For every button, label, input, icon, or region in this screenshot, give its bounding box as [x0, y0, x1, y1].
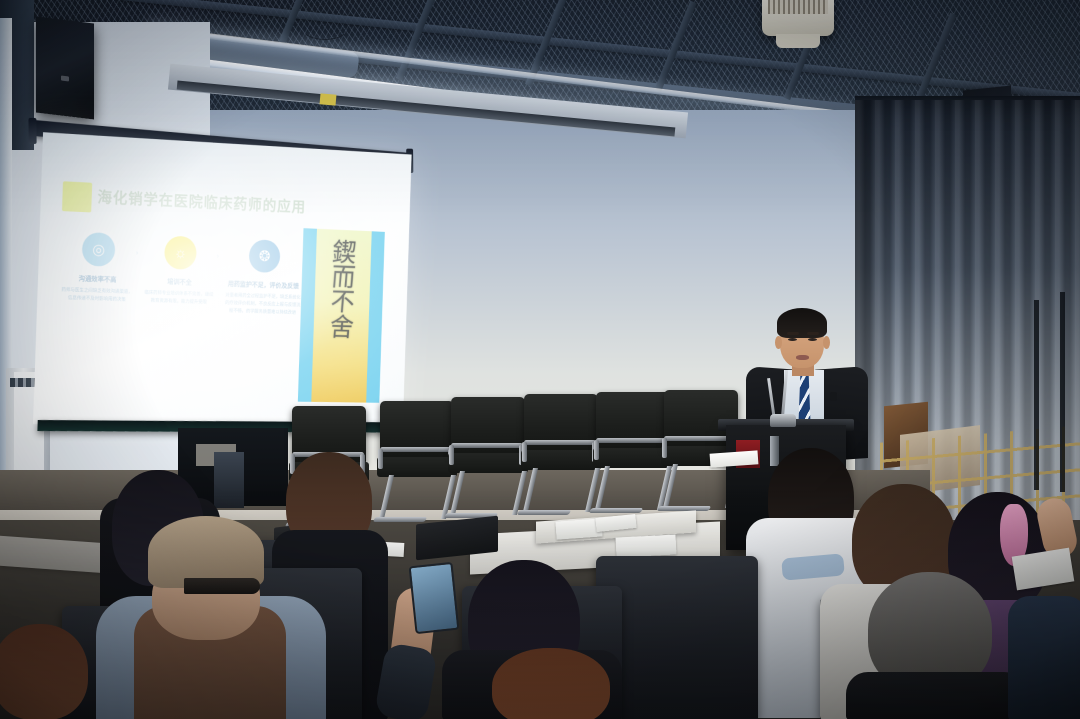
presenter-mouth	[796, 355, 809, 360]
projection-screen: 海化销学在医院临床药师的应用 ◎ 沟通效率不高 药师与医生之间缺乏有效沟通渠道，…	[36, 128, 408, 424]
slide-columns: ◎ 沟通效率不高 药师与医生之间缺乏有效沟通渠道，信息传递不及时影响用药决策 ›…	[57, 231, 297, 403]
presenter-hair	[777, 308, 827, 338]
attendee-left-front	[0, 624, 88, 719]
lapel-pin-icon	[830, 392, 837, 401]
wall-speaker-left	[36, 16, 94, 119]
column-heading: 培训不全	[144, 275, 214, 287]
presenter-brow	[787, 332, 799, 335]
calligraphy-char: 舍	[328, 315, 354, 340]
slide-column-2: ☼ 培训不全 临床药师专业培训体系不完善，继续教育资源有限，能力提升受限	[144, 235, 216, 307]
microphone-base	[770, 414, 796, 427]
chevron-right-icon: ›	[217, 253, 219, 260]
slide-column-1: ◎ 沟通效率不高 药师与医生之间缺乏有效沟通渠道，信息传递不及时影响用药决策	[61, 231, 135, 304]
title-accent-swatch	[62, 181, 92, 212]
lightbulb-icon: ☼	[164, 235, 197, 269]
vent-label-sticker	[320, 93, 337, 105]
calligraphy-scroll: 鍥 而 不 舍	[298, 228, 385, 403]
circle-target-icon: ◎	[82, 232, 116, 267]
screen-surface: 海化销学在医院临床药师的应用 ◎ 沟通效率不高 药师与医生之间缺乏有效沟通渠道，…	[33, 132, 412, 427]
column-body: 药师与医生之间缺乏有效沟通渠道，信息传递不及时影响用药决策	[61, 286, 133, 304]
handshake-icon: ❂	[249, 239, 281, 273]
column-body: 临床药师专业培训体系不完善，继续教育资源有限，能力提升受限	[144, 289, 214, 307]
attendee-gray-hair-body	[846, 672, 1026, 719]
presenter-brow	[807, 332, 819, 335]
slide-column-3: ❂ 用药监护不足，评价及反馈 对患者用药全过程监护不足，缺乏系统化的疗效评价机制…	[224, 238, 303, 317]
railing-post	[1034, 300, 1039, 490]
railing-post	[1060, 292, 1065, 492]
presenter-ear	[775, 336, 782, 349]
flat-cap-brim	[184, 578, 260, 594]
chevron-right-icon: ›	[136, 250, 138, 257]
slide-title: 海化销学在医院临床药师的应用	[97, 186, 306, 217]
hanging-cable	[300, 12, 350, 40]
podium-post	[770, 436, 779, 466]
projector-lens	[776, 34, 820, 48]
column-heading: 沟通效率不高	[62, 272, 134, 284]
attendee-far-right-body	[1008, 596, 1080, 719]
smartphone[interactable]	[409, 562, 460, 634]
slide-content: 海化销学在医院临床药师的应用 ◎ 沟通效率不高 药师与医生之间缺乏有效沟通渠道，…	[55, 181, 392, 405]
equipment-stand	[214, 452, 244, 508]
presenter-eye	[808, 338, 817, 341]
column-body: 对患者用药全过程监护不足，缺乏系统化的疗效评价机制，不良反应上报与反馈流程不畅，…	[224, 291, 301, 317]
presenter-eye	[788, 338, 797, 341]
column-heading: 用药监护不足，评价及反馈	[225, 278, 302, 290]
screen-case-end	[28, 118, 36, 144]
paper-sheet[interactable]	[616, 534, 677, 557]
attendee-auburn-hair	[492, 648, 610, 719]
calligraphy-paper: 鍥 而 不 舍	[311, 229, 371, 403]
lecture-hall-photo: 海化销学在医院临床药师的应用 ◎ 沟通效率不高 药师与医生之间缺乏有效沟通渠道，…	[0, 0, 1080, 719]
presenter-ear	[823, 336, 830, 349]
ceiling-projector	[762, 0, 834, 36]
